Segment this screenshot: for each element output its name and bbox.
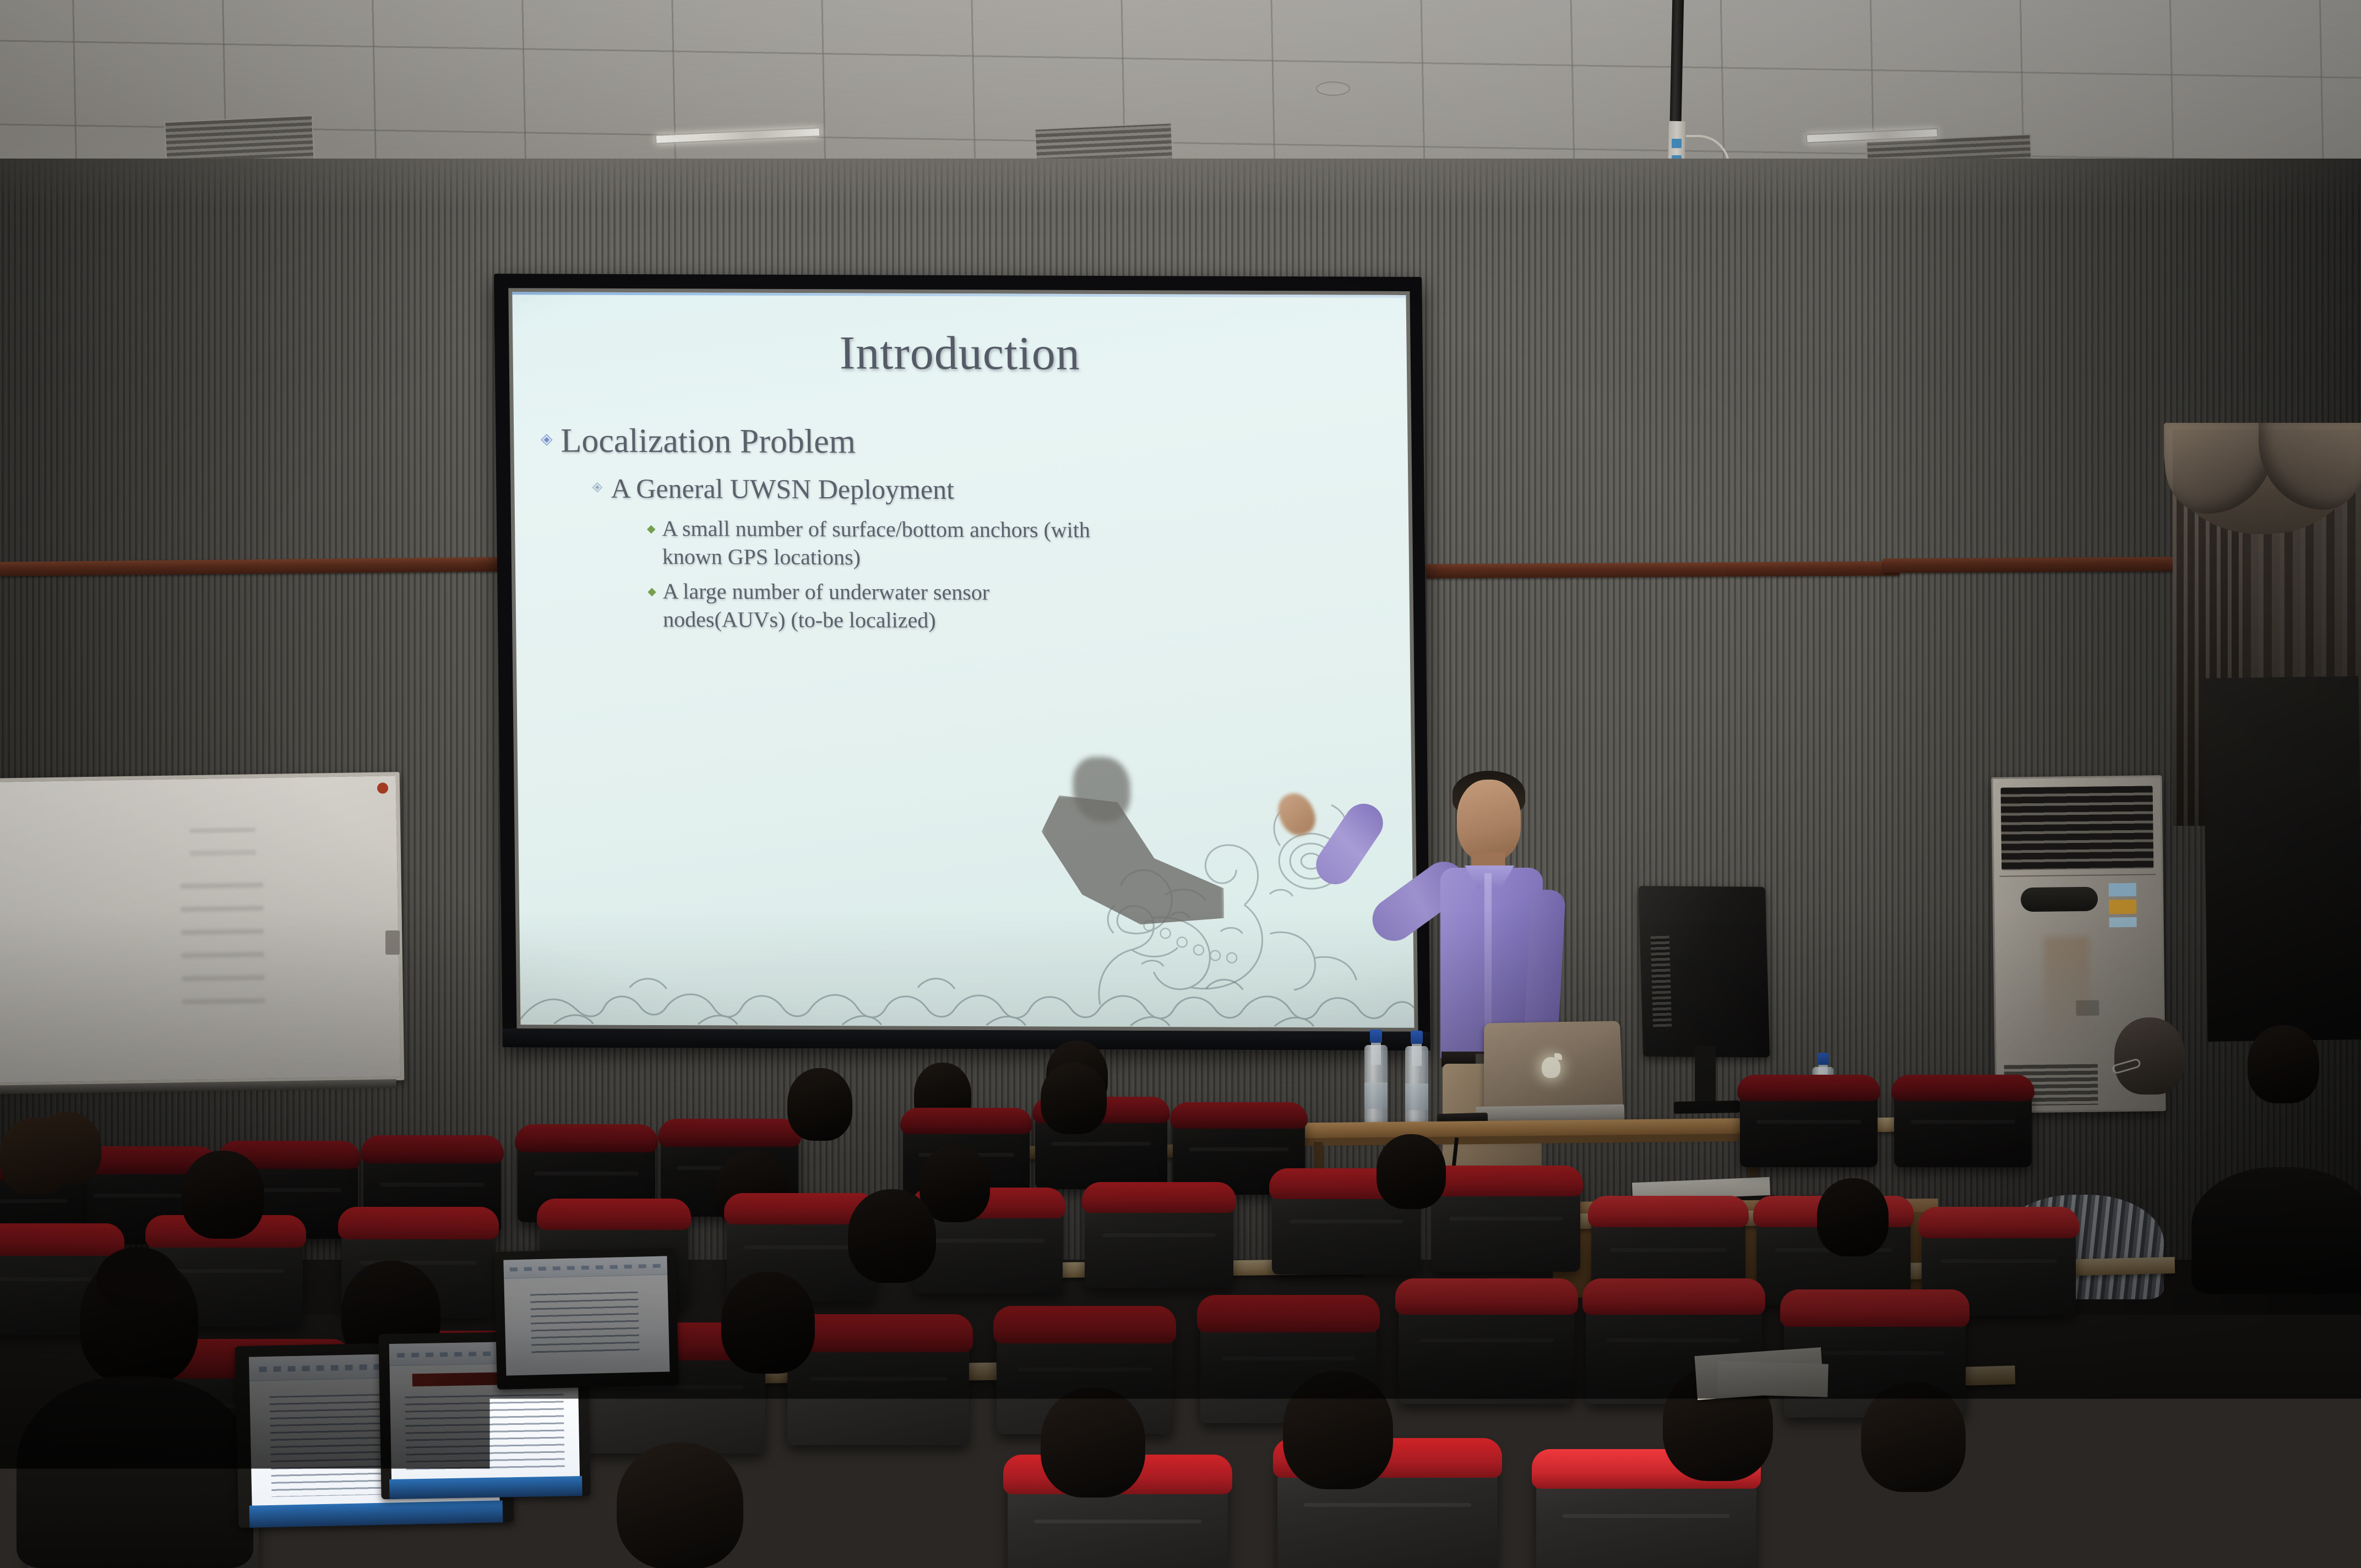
whiteboard-hinge — [385, 930, 400, 955]
bullet-diamond-icon — [648, 588, 656, 597]
student-head — [721, 1272, 815, 1374]
student-laptop[interactable] — [494, 1248, 679, 1390]
laptop-screen — [503, 1256, 670, 1375]
air-conditioner-energy-sticker — [2109, 900, 2136, 914]
student-head — [617, 1442, 743, 1568]
lecture-hall-photo: Introduction Localization Problem A Gene… — [0, 0, 2361, 1568]
air-conditioner-label-sticker — [2109, 883, 2136, 897]
ceiling-speaker — [1316, 81, 1350, 96]
document-text — [405, 1393, 565, 1471]
bottle-cap — [1411, 1031, 1423, 1044]
bullet-diamond-icon — [541, 434, 552, 445]
air-conditioner-control-panel[interactable] — [2021, 887, 2098, 912]
presenter-shirt-placket — [1484, 873, 1492, 1044]
slide-bullet-list: Localization Problem A General UWSN Depl… — [539, 421, 1388, 643]
projection-screen-bottom-bar — [502, 1028, 1430, 1050]
projector-blue-tape — [1672, 139, 1682, 148]
student-head — [1377, 1134, 1446, 1209]
air-conditioner-label-sticker — [2109, 917, 2136, 928]
student-head — [848, 1189, 936, 1283]
slide-bullet-text: Localization Problem — [561, 421, 856, 462]
student-head — [1817, 1178, 1889, 1256]
monitor-stand-base — [1674, 1101, 1740, 1114]
slide-bullet-level2: A General UWSN Deployment — [594, 472, 1386, 507]
student-head — [1041, 1063, 1107, 1134]
slide-bullet-level1: Localization Problem — [542, 421, 1386, 464]
auditorium-seat[interactable] — [1399, 1283, 1575, 1404]
student-head — [1283, 1371, 1393, 1489]
paper-sheet[interactable] — [1717, 1361, 1829, 1397]
student-head — [1041, 1387, 1145, 1498]
auditorium-seat[interactable] — [1432, 1170, 1580, 1272]
whiteboard-erased-marks — [181, 883, 265, 1010]
student-head — [182, 1151, 264, 1239]
bullet-diamond-icon — [647, 525, 656, 534]
student-torso — [2191, 1167, 2361, 1294]
student-torso — [17, 1376, 253, 1568]
slide-accent-line — [512, 292, 1406, 298]
water-bottle[interactable] — [1405, 1031, 1428, 1129]
student-head — [2114, 1017, 2185, 1095]
presenter-head — [1457, 780, 1521, 861]
bottle-cap — [1818, 1053, 1829, 1065]
air-conditioner-seam — [1999, 874, 2156, 876]
auditorium-seat[interactable] — [1740, 1079, 1878, 1167]
dark-wall-board — [2202, 676, 2361, 1042]
water-bottle[interactable] — [1364, 1030, 1388, 1128]
slide-bullet-text: A small number of surface/bottom anchors… — [662, 514, 1103, 572]
slide-bullet-level3: A large number of underwater sensor node… — [649, 577, 1388, 636]
auditorium-seat[interactable] — [1894, 1079, 2032, 1167]
laptop-keyboard[interactable] — [389, 1476, 582, 1499]
air-conditioner-stain — [2043, 937, 2091, 1042]
presenter-shadow-hand — [1073, 757, 1130, 822]
student-head — [0, 1118, 72, 1195]
bottle-cap — [1370, 1030, 1382, 1043]
air-conditioner-grille — [2001, 786, 2154, 870]
auditorium-seat[interactable] — [1085, 1186, 1233, 1288]
slide-bullet-level3: A small number of surface/bottom anchors… — [648, 514, 1387, 573]
slide-bullet-text: A General UWSN Deployment — [611, 472, 954, 505]
student-head — [787, 1068, 852, 1141]
student-head — [1861, 1382, 1966, 1492]
slide-bullet-text: A large number of underwater sensor node… — [662, 577, 1103, 635]
slide-wave-motif — [520, 959, 1415, 1028]
projection-screen: Introduction Localization Problem A Gene… — [494, 274, 1430, 1050]
wall-wood-trim — [1426, 561, 1900, 578]
whiteboard-magnet[interactable] — [377, 782, 388, 793]
bullet-diamond-icon — [592, 482, 602, 492]
apple-logo-icon — [1542, 1057, 1560, 1078]
presentation-slide: Introduction Localization Problem A Gene… — [512, 292, 1414, 1028]
window-toolbar — [503, 1256, 667, 1278]
document-text — [530, 1292, 640, 1354]
slide-title: Introduction — [513, 324, 1407, 382]
student-head — [2248, 1025, 2319, 1103]
monitor-stand-neck — [1695, 1046, 1716, 1107]
whiteboard[interactable] — [0, 772, 404, 1087]
hair-bun — [96, 1247, 179, 1312]
monitor-rear-vent — [1651, 936, 1672, 1030]
laptop-keyboard[interactable] — [249, 1501, 503, 1528]
projection-screen-border: Introduction Localization Problem A Gene… — [508, 288, 1418, 1032]
